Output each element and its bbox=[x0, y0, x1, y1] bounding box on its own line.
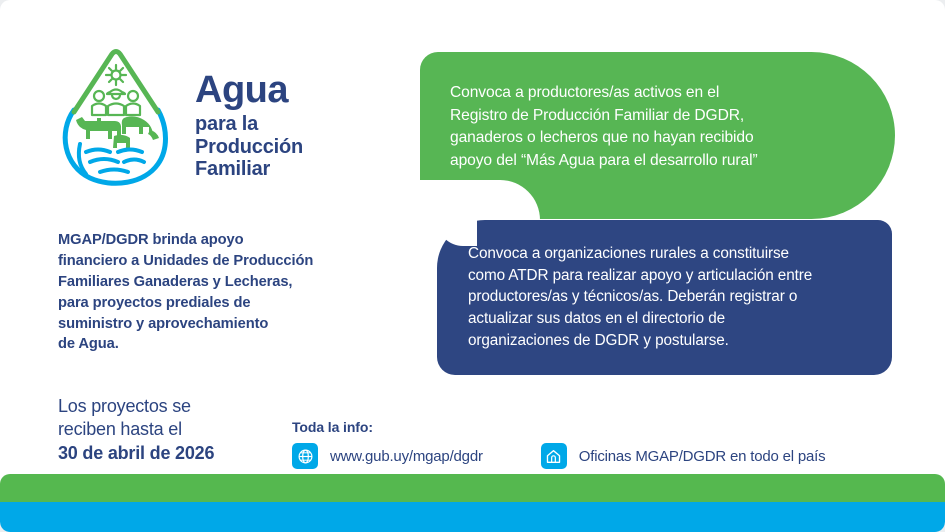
info-offices-text: Oficinas MGAP/DGDR en todo el país bbox=[579, 448, 826, 465]
agua-produccion-familiar-logo bbox=[52, 44, 180, 189]
green-line-2: Registro de Producción Familiar de DGDR, bbox=[450, 105, 880, 128]
lead-paragraph: MGAP/DGDR brinda apoyo financiero a Unid… bbox=[58, 230, 398, 355]
footer-blue-stripe bbox=[0, 502, 945, 532]
footer-green-stripe bbox=[0, 474, 945, 504]
lead-line-2: financiero a Unidades de Producción bbox=[58, 251, 398, 272]
lead-line-3: Familiares Ganaderas y Lecheras, bbox=[58, 272, 398, 293]
green-line-4: apoyo del “Más Agua para el desarrollo r… bbox=[450, 150, 880, 173]
info-title: Toda la info: bbox=[292, 419, 825, 435]
home-icon bbox=[541, 443, 567, 469]
deadline-line-2: reciben hasta el bbox=[58, 418, 308, 441]
page-title: Agua para la Producción Familiar bbox=[195, 72, 415, 180]
info-item-offices[interactable]: Oficinas MGAP/DGDR en todo el país bbox=[541, 443, 826, 469]
info-row: www.gub.uy/mgap/dgdr Oficinas MGAP/DGDR … bbox=[292, 443, 825, 469]
lead-line-6: de Agua. bbox=[58, 334, 398, 355]
lead-line-4: para proyectos prediales de bbox=[58, 293, 398, 314]
green-line-1: Convoca a productores/as activos en el bbox=[450, 82, 880, 105]
blue-line-5: organizaciones de DGDR y postularse. bbox=[468, 330, 888, 352]
info-block: Toda la info: www.gub.uy/mgap/dgdr bbox=[292, 419, 825, 469]
deadline-line-1: Los proyectos se bbox=[58, 395, 308, 418]
title-sub-line2: Producción bbox=[195, 136, 415, 158]
blue-line-2: como ATDR para realizar apoyo y articula… bbox=[468, 265, 888, 287]
info-website-text: www.gub.uy/mgap/dgdr bbox=[330, 448, 483, 465]
info-item-website[interactable]: www.gub.uy/mgap/dgdr bbox=[292, 443, 483, 469]
title-sub-line3: Familiar bbox=[195, 158, 415, 180]
title-main: Agua bbox=[195, 72, 415, 109]
blue-line-4: actualizar sus datos en el directorio de bbox=[468, 308, 888, 330]
green-callout-text: Convoca a productores/as activos en el R… bbox=[450, 82, 880, 172]
blue-line-3: productores/as y técnicos/as. Deberán re… bbox=[468, 286, 888, 308]
blue-line-1: Convoca a organizaciones rurales a const… bbox=[468, 243, 888, 265]
green-line-3: ganaderos o lecheros que no hayan recibi… bbox=[450, 127, 880, 150]
deadline-date: 30 de abril de 2026 bbox=[58, 442, 308, 465]
green-bubble-tail-cut bbox=[420, 180, 540, 220]
globe-icon bbox=[292, 443, 318, 469]
lead-line-1: MGAP/DGDR brinda apoyo bbox=[58, 230, 398, 251]
poster-card: Agua para la Producción Familiar MGAP/DG… bbox=[0, 0, 945, 532]
title-sub-line1: para la bbox=[195, 113, 415, 135]
lead-line-5: suministro y aprovechamiento bbox=[58, 314, 398, 335]
deadline-block: Los proyectos se reciben hasta el 30 de … bbox=[58, 395, 308, 465]
blue-callout-text: Convoca a organizaciones rurales a const… bbox=[468, 243, 888, 352]
title-subtitle: para la Producción Familiar bbox=[195, 113, 415, 180]
